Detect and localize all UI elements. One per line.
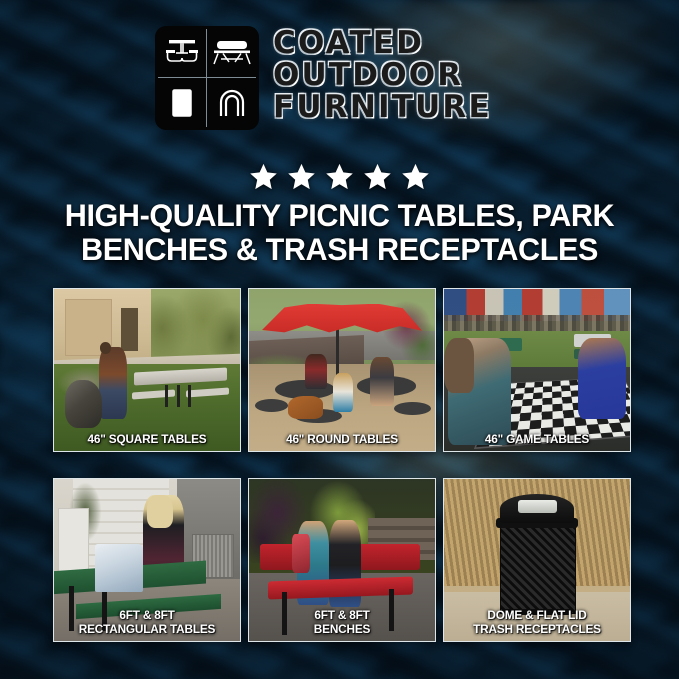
logo-line-1: COATED [273, 28, 492, 59]
headline-line-2: BENCHES & TRASH RECEPTACLES [43, 232, 636, 266]
caption-line-1: 46" SQUARE TABLES [88, 432, 207, 446]
bench-icon [207, 29, 256, 78]
caption-line-1: 46" ROUND TABLES [286, 432, 398, 446]
product-caption: DOME & FLAT LID TRASH RECEPTACLES [448, 609, 627, 637]
product-caption: 46" SQUARE TABLES [58, 433, 237, 447]
caption-line-2: BENCHES [256, 623, 429, 637]
caption-line-1: 46" GAME TABLES [485, 432, 589, 446]
picnic-table-icon [158, 29, 207, 78]
product-image-square-tables [54, 289, 240, 451]
logo-wordmark: COATED OUTDOOR FURNITURE [273, 26, 492, 123]
product-tile-rectangular-tables[interactable]: 6FT & 8FT RECTANGULAR TABLES [53, 478, 241, 642]
arch-bike-rack-icon [207, 78, 256, 127]
caption-line-2: RECTANGULAR TABLES [61, 623, 234, 637]
product-tile-benches[interactable]: 6FT & 8FT BENCHES [248, 478, 436, 642]
product-grid: 46" SQUARE TABLES 46" ROUND TABLES [53, 288, 631, 642]
trash-receptacle-icon [158, 78, 207, 127]
promo-banner: COATED OUTDOOR FURNITURE HIGH-QUALITY PI… [0, 0, 679, 679]
caption-line-1: DOME & FLAT LID [487, 608, 586, 622]
product-caption: 6FT & 8FT RECTANGULAR TABLES [58, 609, 237, 637]
logo-line-2: OUTDOOR [273, 60, 492, 91]
product-tile-trash-receptacles[interactable]: DOME & FLAT LID TRASH RECEPTACLES [443, 478, 631, 642]
product-tile-game-tables[interactable]: 46" GAME TABLES [443, 288, 631, 452]
headline-line-1: HIGH-QUALITY PICNIC TABLES, PARK [65, 197, 614, 233]
logo-mark [155, 26, 259, 130]
product-caption: 46" ROUND TABLES [253, 433, 432, 447]
logo-line-3: FURNITURE [273, 92, 492, 123]
star-icon [401, 162, 430, 191]
product-caption: 6FT & 8FT BENCHES [253, 609, 432, 637]
star-rating [0, 160, 679, 192]
star-icon [363, 162, 392, 191]
brand-logo: COATED OUTDOOR FURNITURE [155, 26, 535, 148]
caption-line-2: TRASH RECEPTACLES [451, 623, 624, 637]
star-icon [287, 162, 316, 191]
star-icon [325, 162, 354, 191]
product-image-round-tables [249, 289, 435, 451]
star-icon [249, 162, 278, 191]
product-image-game-tables [444, 289, 630, 451]
product-caption: 46" GAME TABLES [448, 433, 627, 447]
caption-line-1: 6FT & 8FT [119, 608, 174, 622]
product-tile-round-tables[interactable]: 46" ROUND TABLES [248, 288, 436, 452]
product-tile-square-tables[interactable]: 46" SQUARE TABLES [53, 288, 241, 452]
headline: HIGH-QUALITY PICNIC TABLES, PARK BENCHES… [43, 198, 636, 266]
caption-line-1: 6FT & 8FT [314, 608, 369, 622]
